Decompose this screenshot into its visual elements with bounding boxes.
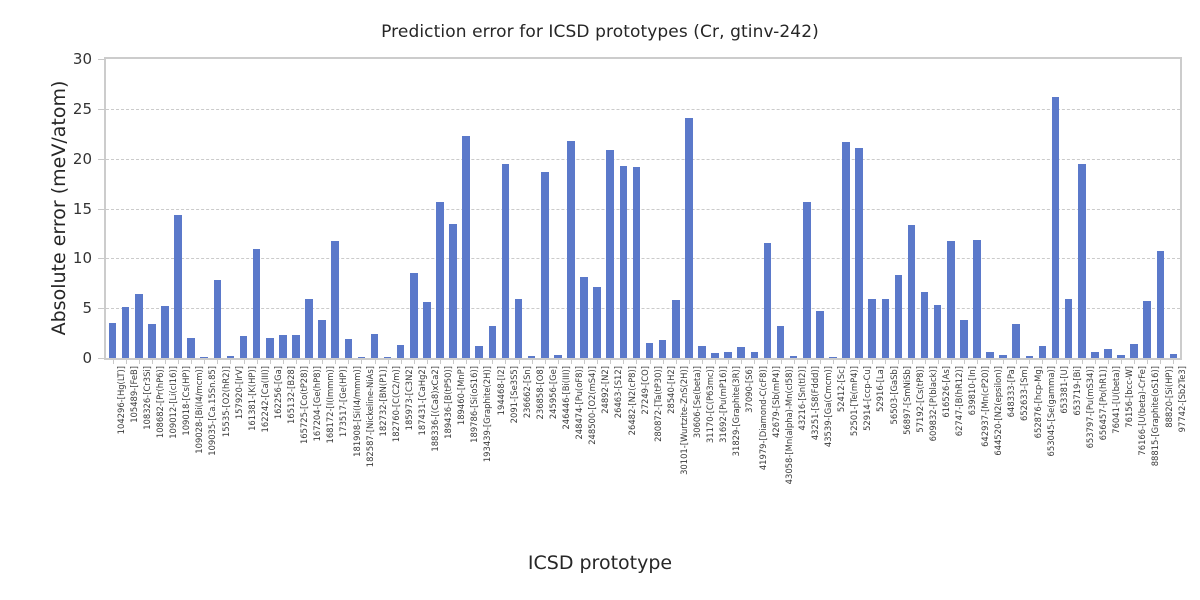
bar	[685, 118, 693, 358]
x-tick-mark	[597, 360, 598, 364]
x-tick-mark	[715, 360, 716, 364]
bar	[737, 347, 745, 358]
y-tick-label: 20	[32, 150, 92, 168]
bar	[620, 166, 628, 358]
x-tick-label: 62747-[B(hR12)]	[954, 366, 964, 436]
x-tick-mark	[492, 360, 493, 364]
x-tick-label: 31692-[Pu(mP16)]	[718, 366, 728, 443]
x-tick-label: 189460-[MnP]	[456, 366, 466, 425]
x-tick-mark	[283, 360, 284, 364]
x-tick-mark	[322, 360, 323, 364]
x-tick-mark	[1029, 360, 1030, 364]
y-tick-label: 15	[32, 200, 92, 218]
x-tick-label: 653381-[U]	[1059, 366, 1069, 414]
x-tick-mark	[584, 360, 585, 364]
x-tick-label: 280872-[Ta(tP30)]	[653, 366, 663, 442]
bar	[934, 305, 942, 358]
x-tick-mark	[505, 360, 506, 364]
x-tick-mark	[1003, 360, 1004, 364]
x-tick-label: 28540-[H2]	[666, 366, 676, 414]
bar	[528, 356, 536, 358]
bar	[423, 302, 431, 358]
bar	[816, 311, 824, 358]
bar	[724, 352, 732, 358]
x-tick-label: 41979-[Diamond-C(cF8)]	[758, 366, 768, 470]
bar	[135, 294, 143, 358]
bar	[606, 150, 614, 358]
x-tick-mark	[152, 360, 153, 364]
x-tick-label: 104296-[Hg(LT)]	[116, 366, 126, 434]
bar	[318, 320, 326, 358]
bar	[200, 357, 208, 358]
x-tick-mark	[977, 360, 978, 364]
chart-figure: Prediction error for ICSD prototypes (Cr…	[0, 0, 1200, 600]
x-tick-mark	[702, 360, 703, 364]
bar	[554, 355, 562, 358]
x-tick-mark	[244, 360, 245, 364]
x-tick-mark	[309, 360, 310, 364]
x-tick-mark	[636, 360, 637, 364]
x-tick-mark	[846, 360, 847, 364]
bar	[148, 324, 156, 358]
x-tick-label: 56503-[GaSb]	[889, 366, 899, 424]
bar	[331, 241, 339, 358]
bar	[384, 357, 392, 358]
x-tick-label: 88820-[Si(HP)]	[1164, 366, 1174, 428]
bar	[777, 326, 785, 358]
x-tick-label: 653045-[Se(gamma)]	[1046, 366, 1056, 456]
bar	[711, 353, 719, 358]
x-tick-mark	[139, 360, 140, 364]
x-tick-label: 609832-[P(black)]	[928, 366, 938, 441]
x-tick-mark	[519, 360, 520, 364]
plot-area	[104, 57, 1182, 360]
x-tick-mark	[1108, 360, 1109, 364]
x-tick-mark	[178, 360, 179, 364]
x-tick-label: 639810-[In]	[967, 366, 977, 415]
x-tick-label: 162256-[Ga]	[273, 366, 283, 419]
x-tick-label: 108682-[Pr(hP6)]	[155, 366, 165, 438]
y-tick-label: 25	[32, 100, 92, 118]
bar	[345, 339, 353, 358]
gridline	[106, 308, 1180, 309]
bar	[122, 307, 130, 358]
x-tick-label: 109018-[Cs(HP)]	[181, 366, 191, 436]
x-tick-label: 648333-[Pa]	[1006, 366, 1016, 417]
x-tick-mark	[375, 360, 376, 364]
x-tick-mark	[532, 360, 533, 364]
x-tick-label: 76166-[U(beta)-CrFe]	[1137, 366, 1147, 456]
x-tick-label: 165132-[B28]	[286, 366, 296, 424]
x-tick-mark	[754, 360, 755, 364]
x-tick-mark	[728, 360, 729, 364]
bar	[698, 346, 706, 358]
x-tick-label: 616526-[As]	[941, 366, 951, 418]
x-tick-mark	[440, 360, 441, 364]
x-tick-label: 76041-[U(beta)]	[1111, 366, 1121, 434]
x-tick-mark	[623, 360, 624, 364]
x-tick-mark	[885, 360, 886, 364]
bar	[1157, 251, 1165, 358]
bar	[305, 299, 313, 358]
bar	[1052, 97, 1060, 358]
x-tick-label: 76156-[bcc-W]	[1124, 366, 1134, 428]
x-tick-label: 24892-[N2]	[600, 366, 610, 414]
bar	[672, 300, 680, 358]
gridline	[106, 109, 1180, 110]
x-tick-mark	[191, 360, 192, 364]
x-tick-mark	[466, 360, 467, 364]
bar	[436, 202, 444, 358]
x-tick-mark	[479, 360, 480, 364]
x-tick-label: 52412-[Sc]	[836, 366, 846, 412]
x-tick-label: 30101-[Wurtzite-ZnS(2H)]	[679, 366, 689, 475]
x-tick-label: 157920-[IrV]	[234, 366, 244, 419]
x-tick-mark	[925, 360, 926, 364]
x-tick-label: 642937-[Mn(cP20)]	[980, 366, 990, 447]
x-tick-label: 43216-[Sn(tI2)]	[797, 366, 807, 430]
bar	[187, 338, 195, 358]
bar	[449, 224, 457, 358]
x-tick-mark	[427, 360, 428, 364]
bar	[842, 142, 850, 358]
x-tick-label: 27249-[CO]	[640, 366, 650, 415]
bar	[751, 352, 759, 358]
x-tick-mark	[361, 360, 362, 364]
bar	[462, 136, 470, 358]
bar	[999, 355, 1007, 358]
x-tick-mark	[951, 360, 952, 364]
y-tick-label: 30	[32, 50, 92, 68]
bar	[829, 357, 837, 358]
bar	[397, 345, 405, 358]
x-tick-label: 43539-[Ga(Cmcm)]	[823, 366, 833, 447]
x-tick-label: 653797-[Pu(mS34)]	[1085, 366, 1095, 448]
x-tick-mark	[833, 360, 834, 364]
x-tick-label: 194468-[I2]	[496, 366, 506, 415]
x-tick-label: 31829-[Graphite(3R)]	[731, 366, 741, 456]
x-axis-title: ICSD prototype	[0, 552, 1200, 574]
bar	[580, 277, 588, 358]
x-tick-label: 165725-[Co(tP28)]	[299, 366, 309, 444]
bar	[1143, 301, 1151, 358]
bar	[358, 357, 366, 358]
x-tick-mark	[741, 360, 742, 364]
chart-title: Prediction error for ICSD prototypes (Cr…	[0, 22, 1200, 42]
y-tick-label: 10	[32, 249, 92, 267]
bar	[1065, 299, 1073, 358]
x-tick-label: 30606-[Se(beta)]	[692, 366, 702, 438]
bar	[279, 335, 287, 358]
x-tick-label: 168172-[I(Immm)]	[325, 366, 335, 443]
bar	[1091, 352, 1099, 358]
x-tick-mark	[296, 360, 297, 364]
bar	[646, 343, 654, 358]
x-tick-label: 185973-[C3N2]	[404, 366, 414, 430]
x-tick-mark	[414, 360, 415, 364]
x-tick-label: 162242-[Ca(III)]	[260, 366, 270, 432]
x-tick-mark	[689, 360, 690, 364]
x-tick-mark	[1134, 360, 1135, 364]
bar	[109, 323, 117, 358]
x-tick-label: 105489-[FeB]	[129, 366, 139, 423]
bar	[227, 356, 235, 358]
bar	[986, 352, 994, 358]
bar	[240, 336, 248, 358]
bar	[475, 346, 483, 358]
x-tick-label: 15535-[O2(hR2)]	[221, 366, 231, 437]
x-tick-label: 37090-[S6]	[744, 366, 754, 413]
x-tick-label: 248474-[Pu(oF8)]	[574, 366, 584, 440]
x-tick-mark	[230, 360, 231, 364]
x-tick-mark	[401, 360, 402, 364]
bar	[908, 225, 916, 358]
x-tick-label: 43058-[Mn(alpha)-Mn(cI58)]	[784, 366, 794, 484]
x-tick-mark	[1056, 360, 1057, 364]
x-tick-mark	[663, 360, 664, 364]
x-tick-label: 181908-[Si(I4/mmm)]	[352, 366, 362, 457]
bar	[868, 299, 876, 358]
x-tick-label: 52914-[ccp-Cu]	[862, 366, 872, 431]
y-tick-label: 5	[32, 299, 92, 317]
bar	[567, 141, 575, 358]
x-tick-label: 109028-[Bi(I4/mcm)]	[194, 366, 204, 454]
bar	[1170, 354, 1178, 358]
x-tick-label: 26463-[S12]	[613, 366, 623, 418]
bar	[1117, 355, 1125, 358]
x-tick-mark	[964, 360, 965, 364]
x-tick-label: 97742-[Sb2Te3]	[1177, 366, 1187, 432]
x-tick-mark	[335, 360, 336, 364]
x-tick-label: 109035-[Ca.15Sn.85]	[207, 366, 217, 456]
x-tick-label: 43251-[S8(Fddd)]	[810, 366, 820, 440]
x-tick-label: 182760-[C(C2/m)]	[391, 366, 401, 442]
x-tick-label: 644520-[N2(epsilon)]	[993, 366, 1003, 456]
bar	[593, 287, 601, 358]
bar	[161, 306, 169, 358]
bar	[410, 273, 418, 358]
x-tick-mark	[807, 360, 808, 364]
x-tick-mark	[545, 360, 546, 364]
x-tick-mark	[1042, 360, 1043, 364]
bar	[882, 299, 890, 358]
x-tick-label: 173517-[Ge(HP)]	[338, 366, 348, 437]
bar	[174, 215, 182, 358]
x-tick-label: 236662-[Sn]	[522, 366, 532, 418]
x-tick-mark	[1082, 360, 1083, 364]
x-tick-mark	[348, 360, 349, 364]
bar	[1039, 346, 1047, 358]
x-tick-mark	[217, 360, 218, 364]
x-tick-mark	[898, 360, 899, 364]
bar	[1104, 349, 1112, 358]
x-tick-label: 161381-[K(HP)]	[247, 366, 257, 431]
x-tick-mark	[859, 360, 860, 364]
x-tick-label: 187431-[CaHg2]	[417, 366, 427, 435]
bar	[973, 240, 981, 358]
bar	[1012, 324, 1020, 358]
x-tick-label: 656457-[Po(hR1)]	[1098, 366, 1108, 440]
x-tick-mark	[650, 360, 651, 364]
x-tick-mark	[113, 360, 114, 364]
x-tick-label: 109012-[Li(cI16)]	[168, 366, 178, 439]
x-tick-label: 42679-[Sb(mP4)]	[771, 366, 781, 438]
x-tick-mark	[872, 360, 873, 364]
bar	[541, 172, 549, 358]
x-tick-label: 56897-[SmNiSb]	[902, 366, 912, 435]
bar	[266, 338, 274, 358]
x-tick-label: 52916-[La]	[875, 366, 885, 412]
bar	[515, 299, 523, 358]
x-tick-label: 88815-[Graphite(oS16)]	[1150, 366, 1160, 466]
x-tick-label: 236858-[O8]	[535, 366, 545, 419]
x-tick-mark	[794, 360, 795, 364]
x-tick-mark	[767, 360, 768, 364]
x-tick-label: 189436-[B(tP50)]	[443, 366, 453, 439]
x-tick-mark	[571, 360, 572, 364]
x-tick-mark	[610, 360, 611, 364]
x-tick-label: 652633-[Sm]	[1019, 366, 1029, 421]
x-tick-mark	[126, 360, 127, 364]
gridline	[106, 258, 1180, 259]
x-tick-label: 182587-[Nickeline-NiAs]	[365, 366, 375, 467]
x-tick-mark	[270, 360, 271, 364]
bar	[489, 326, 497, 358]
x-tick-label: 245956-[Ge]	[548, 366, 558, 419]
x-tick-label: 182732-[BN(P1)]	[378, 366, 388, 436]
x-tick-mark	[1016, 360, 1017, 364]
bar	[947, 241, 955, 358]
x-tick-label: 57192-[Cs(tP8)]	[915, 366, 925, 433]
x-tick-label: 189786-[Si(oS16)]	[469, 366, 479, 443]
x-tick-label: 52501-[Te(mP4)]	[849, 366, 859, 436]
bar	[371, 334, 379, 358]
bar	[764, 243, 772, 358]
x-tick-mark	[453, 360, 454, 364]
bar	[633, 167, 641, 358]
x-tick-label: 108326-[Cr3Si]	[142, 366, 152, 430]
x-tick-mark	[990, 360, 991, 364]
x-tick-mark	[938, 360, 939, 364]
x-tick-mark	[204, 360, 205, 364]
x-tick-mark	[257, 360, 258, 364]
x-tick-mark	[165, 360, 166, 364]
bar	[292, 335, 300, 358]
x-tick-label: 31170-[C(P63mc)]	[705, 366, 715, 443]
x-tick-mark	[1069, 360, 1070, 364]
bar	[502, 164, 510, 358]
bar	[1026, 356, 1034, 358]
x-tick-label: 652876-[hcp-Mg]	[1033, 366, 1043, 438]
x-tick-label: 2091-[Se3S5]	[509, 366, 519, 423]
x-tick-mark	[912, 360, 913, 364]
gridline	[106, 209, 1180, 210]
x-tick-mark	[1173, 360, 1174, 364]
bar	[214, 280, 222, 358]
bar	[921, 292, 929, 358]
bar	[895, 275, 903, 358]
x-tick-mark	[1121, 360, 1122, 364]
x-tick-label: 193439-[Graphite(2H)]	[482, 366, 492, 462]
x-tick-mark	[388, 360, 389, 364]
x-tick-mark	[820, 360, 821, 364]
x-tick-mark	[781, 360, 782, 364]
bar	[790, 356, 798, 358]
bar	[1078, 164, 1086, 358]
bar	[803, 202, 811, 358]
bar	[855, 148, 863, 358]
x-tick-mark	[1147, 360, 1148, 364]
bar	[1130, 344, 1138, 358]
bar	[253, 249, 261, 358]
bar	[659, 340, 667, 358]
gridline	[106, 159, 1180, 160]
x-tick-label: 248500-[O2(mS4)]	[587, 366, 597, 445]
x-tick-label: 167204-[Ge(hP8)]	[312, 366, 322, 441]
x-tick-mark	[1160, 360, 1161, 364]
x-tick-label: 188336-[(Ca8)xCa2]	[430, 366, 440, 452]
x-tick-mark	[558, 360, 559, 364]
x-tick-label: 26482-[N2(cP8)]	[627, 366, 637, 435]
x-tick-label: 653719-[Bi]	[1072, 366, 1082, 416]
bar	[960, 320, 968, 358]
y-tick-label: 0	[32, 349, 92, 367]
x-tick-label: 246446-[Bi(III)]	[561, 366, 571, 430]
x-tick-mark	[1095, 360, 1096, 364]
x-tick-mark	[676, 360, 677, 364]
